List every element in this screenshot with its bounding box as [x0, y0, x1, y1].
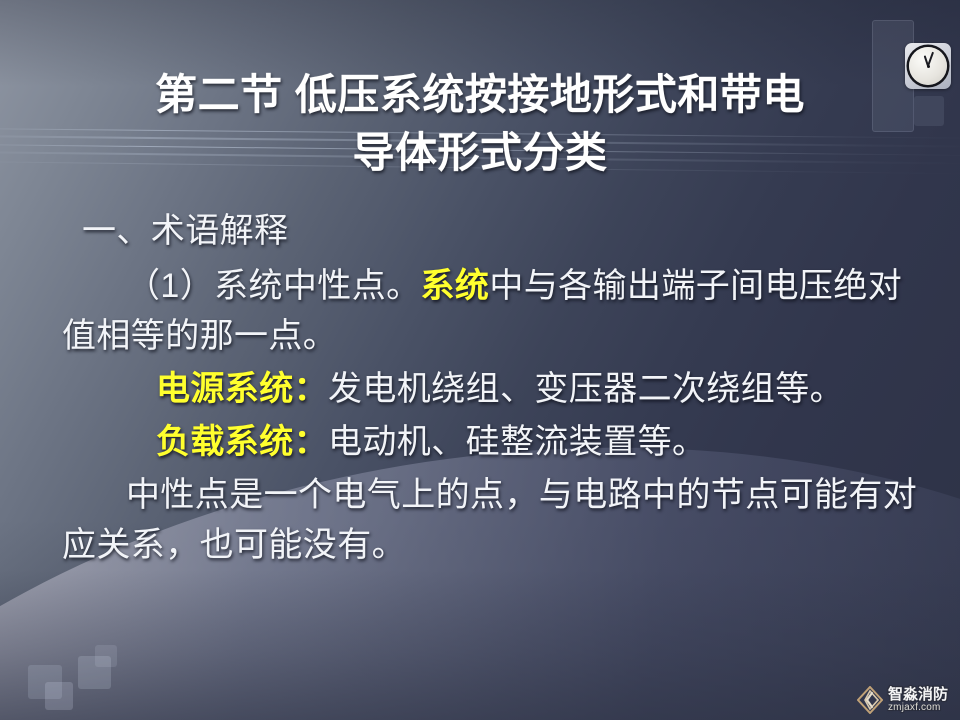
body-text: 中性点是一个电气上的点，与电路中的节点可能有对应关系，也可能没有。 — [62, 476, 917, 564]
title-line-1: 第二节 低压系统按接地形式和带电 — [0, 66, 960, 124]
title-line-2: 导体形式分类 — [0, 124, 960, 182]
highlighted-text: 负载系统： — [156, 423, 328, 461]
highlighted-text: 系统 — [421, 267, 490, 305]
watermark: 智淼消防 zmjaxf.com — [857, 686, 948, 714]
watermark-url: zmjaxf.com — [888, 703, 948, 713]
body-text: （1）系统中性点。 — [126, 267, 421, 305]
watermark-logo-icon — [857, 686, 883, 714]
decor-square — [45, 682, 73, 710]
body-text: 发电机绕组、变压器二次绕组等。 — [328, 370, 844, 408]
note-neutral-point: 中性点是一个电气上的点，与电路中的节点可能有对应关系，也可能没有。 — [62, 470, 920, 570]
slide-body: 一、术语解释 （1）系统中性点。系统中与各输出端子间电压绝对值相等的那一点。 电… — [62, 206, 920, 570]
body-text: 电动机、硅整流装置等。 — [328, 423, 706, 461]
highlighted-text: 电源系统： — [156, 370, 328, 408]
slide-canvas: 第二节 低压系统按接地形式和带电 导体形式分类 一、术语解释 （1）系统中性点。… — [0, 0, 960, 720]
slide-title: 第二节 低压系统按接地形式和带电 导体形式分类 — [0, 66, 960, 182]
watermark-name: 智淼消防 — [888, 687, 948, 702]
decor-square — [95, 645, 117, 667]
item-load-system: 负载系统：电动机、硅整流装置等。 — [62, 417, 920, 467]
definition-neutral-point: （1）系统中性点。系统中与各输出端子间电压绝对值相等的那一点。 — [62, 261, 920, 361]
item-source-system: 电源系统：发电机绕组、变压器二次绕组等。 — [62, 364, 920, 414]
section-heading: 一、术语解释 — [62, 206, 920, 256]
